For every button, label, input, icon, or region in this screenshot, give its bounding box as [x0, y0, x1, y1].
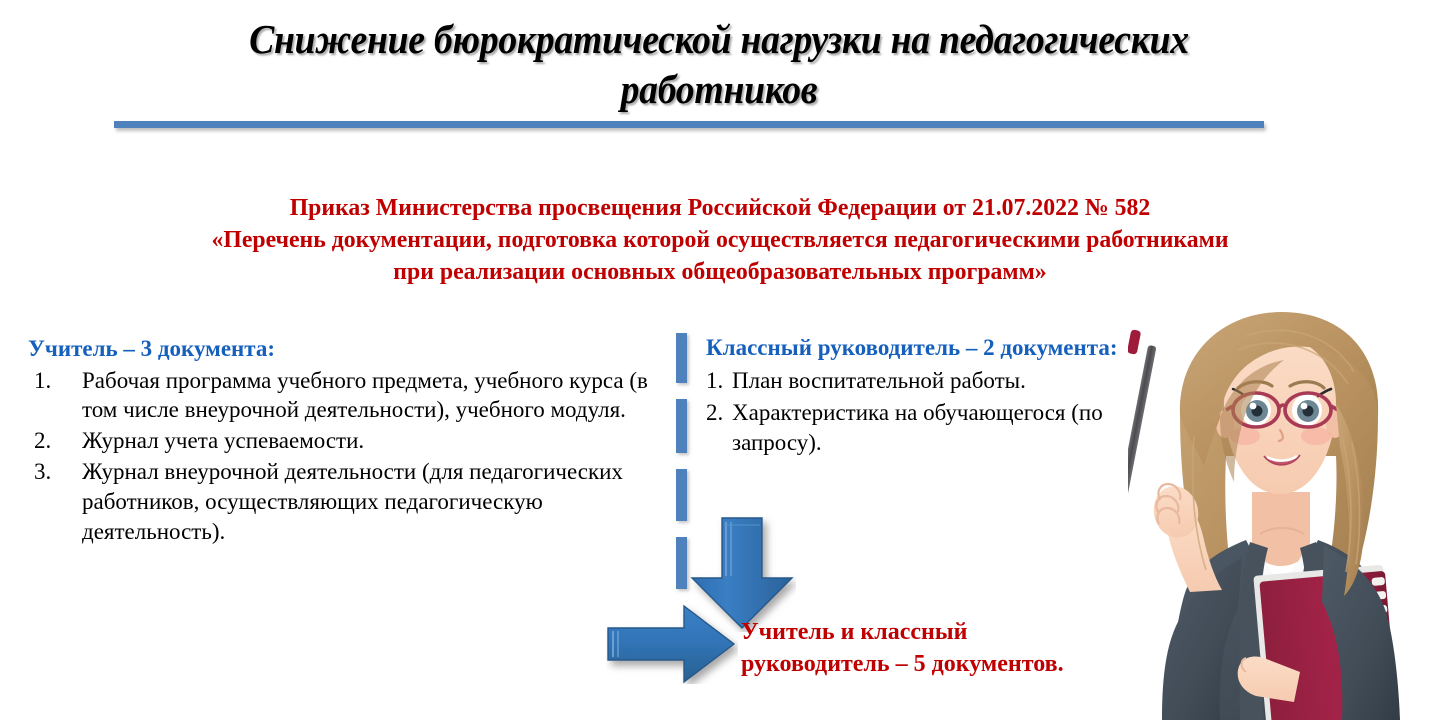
list-item-number: 1. — [34, 366, 70, 396]
class-teacher-documents-column: Классный руководитель – 2 документа: 1. … — [706, 333, 1126, 460]
list-item-text: План воспитательной работы. — [732, 368, 1026, 393]
list-item: 2. Характеристика на обучающегося (по за… — [706, 398, 1126, 459]
class-teacher-documents-list: 1. План воспитательной работы. 2. Характ… — [706, 366, 1126, 458]
list-item-text: Характеристика на обучающегося (по запро… — [732, 400, 1103, 455]
order-subtitle: Приказ Министерства просвещения Российск… — [80, 192, 1360, 288]
title-underline-rule — [114, 121, 1264, 128]
teacher-illustration-icon — [1128, 296, 1437, 720]
list-item-text: Журнал учета успеваемости. — [82, 428, 364, 453]
list-item-number: 3. — [34, 457, 70, 487]
right-column-heading: Классный руководитель – 2 документа: — [706, 333, 1126, 362]
left-column-heading: Учитель – 3 документа: — [28, 335, 648, 363]
list-item: 3. Журнал внеурочной деятельности (для п… — [28, 457, 648, 547]
divider-dash — [676, 469, 687, 521]
divider-dash — [676, 399, 687, 453]
list-item-number: 2. — [34, 426, 70, 456]
conclusion-text: Учитель и классный руководитель – 5 доку… — [741, 617, 1171, 681]
divider-dash — [676, 333, 687, 383]
page-title: Снижение бюрократической нагрузки на пед… — [161, 14, 1278, 115]
list-item: 1. План воспитательной работы. — [706, 366, 1126, 396]
list-item-text: Рабочая программа учебного предмета, уче… — [82, 368, 648, 423]
list-item-number: 2. — [706, 398, 723, 428]
pointer-stick-icon — [1128, 329, 1157, 533]
teacher-documents-list: 1. Рабочая программа учебного предмета, … — [28, 366, 648, 547]
dashed-divider-icon — [676, 333, 687, 589]
list-item: 2. Журнал учета успеваемости. — [28, 426, 648, 456]
list-item-number: 1. — [706, 366, 723, 396]
list-item-text: Журнал внеурочной деятельности (для педа… — [82, 459, 623, 544]
teacher-documents-column: Учитель – 3 документа: 1. Рабочая програ… — [28, 335, 648, 548]
list-item: 1. Рабочая программа учебного предмета, … — [28, 366, 648, 426]
arrow-right-icon — [606, 604, 738, 684]
arrow-right-shape — [608, 606, 734, 682]
divider-dash — [676, 537, 687, 589]
